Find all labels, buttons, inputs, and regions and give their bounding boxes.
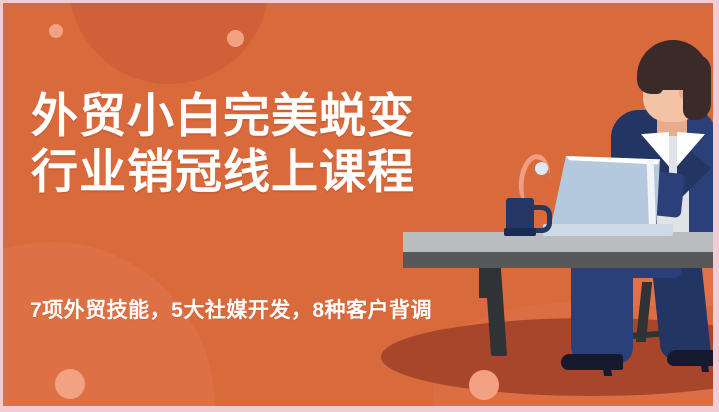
- headline-line-2: 行业销冠线上课程: [31, 144, 415, 200]
- person-shoe-front: [561, 354, 623, 370]
- coffee-steam-dot: [535, 162, 548, 175]
- decorative-dot: [55, 369, 85, 399]
- headline-line-1: 外贸小白完美蜕变: [31, 89, 415, 142]
- person-hair-side: [683, 54, 711, 120]
- banner-canvas: 外贸小白完美蜕变 行业销冠线上课程 7项外贸技能，5大社媒开发，8种客户背调: [3, 2, 713, 406]
- course-promo-banner: 外贸小白完美蜕变 行业销冠线上课程 7项外贸技能，5大社媒开发，8种客户背调: [0, 0, 719, 412]
- businesswoman-illustration: [443, 2, 713, 406]
- decorative-dot: [227, 30, 244, 47]
- coffee-mug-base: [504, 228, 536, 236]
- banner-headline: 外贸小白完美蜕变 行业销冠线上课程: [31, 88, 415, 200]
- desk-edge: [403, 252, 713, 268]
- decorative-dot: [49, 24, 63, 38]
- person-hair-fringe: [637, 64, 663, 94]
- desk-leg: [485, 268, 507, 356]
- decorative-circle-bottom-left: [3, 242, 215, 406]
- person-shoe-back: [667, 350, 713, 366]
- banner-subheadline: 7项外贸技能，5大社媒开发，8种客户背调: [30, 294, 432, 324]
- laptop-base: [543, 224, 673, 236]
